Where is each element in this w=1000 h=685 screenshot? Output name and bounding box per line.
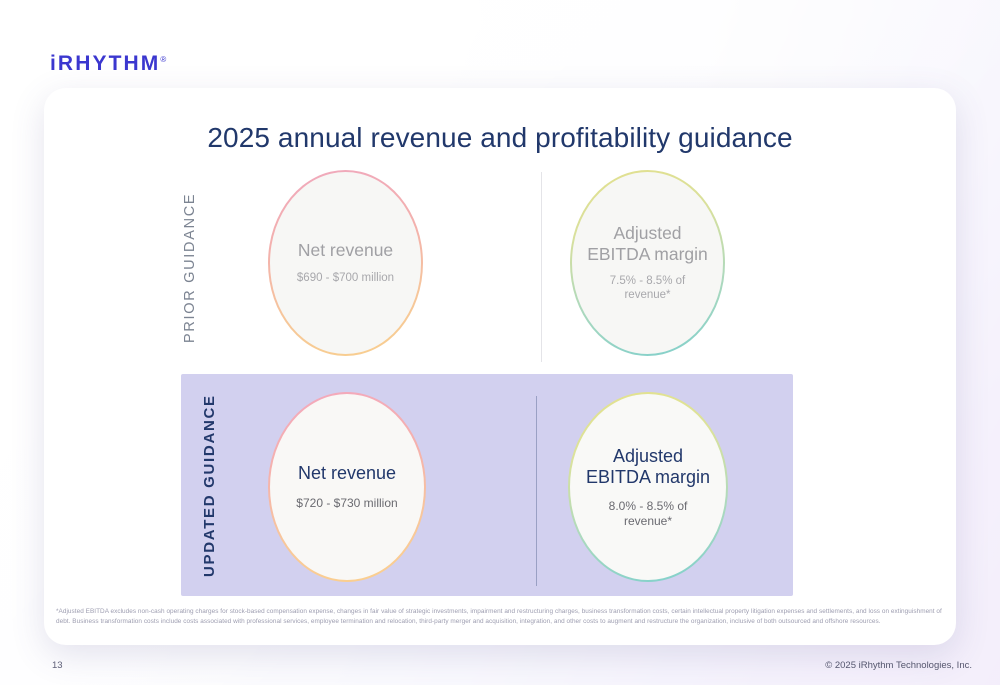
prior-net-revenue-title: Net revenue xyxy=(298,240,393,260)
updated-guidance-rail-label: UPDATED GUIDANCE xyxy=(201,390,218,582)
updated-net-revenue-value: $720 - $730 million xyxy=(296,496,397,510)
registered-trademark-icon: ® xyxy=(160,55,166,64)
prior-guidance-section: PRIOR GUIDANCE Net revenue $690 - $700 m… xyxy=(181,170,793,366)
updated-net-revenue-title: Net revenue xyxy=(298,463,396,484)
prior-adjusted-ebitda-title: Adjusted EBITDA margin xyxy=(586,223,709,264)
updated-adjusted-ebitda-value: 8.0% - 8.5% of revenue* xyxy=(584,499,712,528)
logo-wordmark: iRHYTHM xyxy=(50,52,160,75)
page-number: 13 xyxy=(52,660,63,671)
updated-adjusted-ebitda-margin-bubble: Adjusted EBITDA margin 8.0% - 8.5% of re… xyxy=(568,392,728,582)
copyright-notice: © 2025 iRhythm Technologies, Inc. xyxy=(825,660,972,671)
prior-adjusted-ebitda-margin-bubble: Adjusted EBITDA margin 7.5% - 8.5% of re… xyxy=(570,170,725,356)
irhythm-logo: iRHYTHM® xyxy=(50,52,166,76)
updated-adjusted-ebitda-title: Adjusted EBITDA margin xyxy=(584,446,712,488)
updated-net-revenue-bubble: Net revenue $720 - $730 million xyxy=(268,392,426,582)
updated-guidance-section: UPDATED GUIDANCE Net revenue $720 - $730… xyxy=(181,374,793,596)
prior-guidance-rail-label: PRIOR GUIDANCE xyxy=(182,170,198,366)
prior-net-revenue-value: $690 - $700 million xyxy=(297,272,394,286)
prior-net-revenue-bubble: Net revenue $690 - $700 million xyxy=(268,170,423,356)
prior-adjusted-ebitda-value: 7.5% - 8.5% of revenue* xyxy=(586,275,709,303)
updated-column-divider xyxy=(536,396,537,586)
footnote-text: *Adjusted EBITDA excludes non-cash opera… xyxy=(56,607,944,628)
prior-column-divider xyxy=(541,172,542,362)
page-title: 2025 annual revenue and profitability gu… xyxy=(44,122,956,154)
slide-content-card: 2025 annual revenue and profitability gu… xyxy=(44,88,956,645)
